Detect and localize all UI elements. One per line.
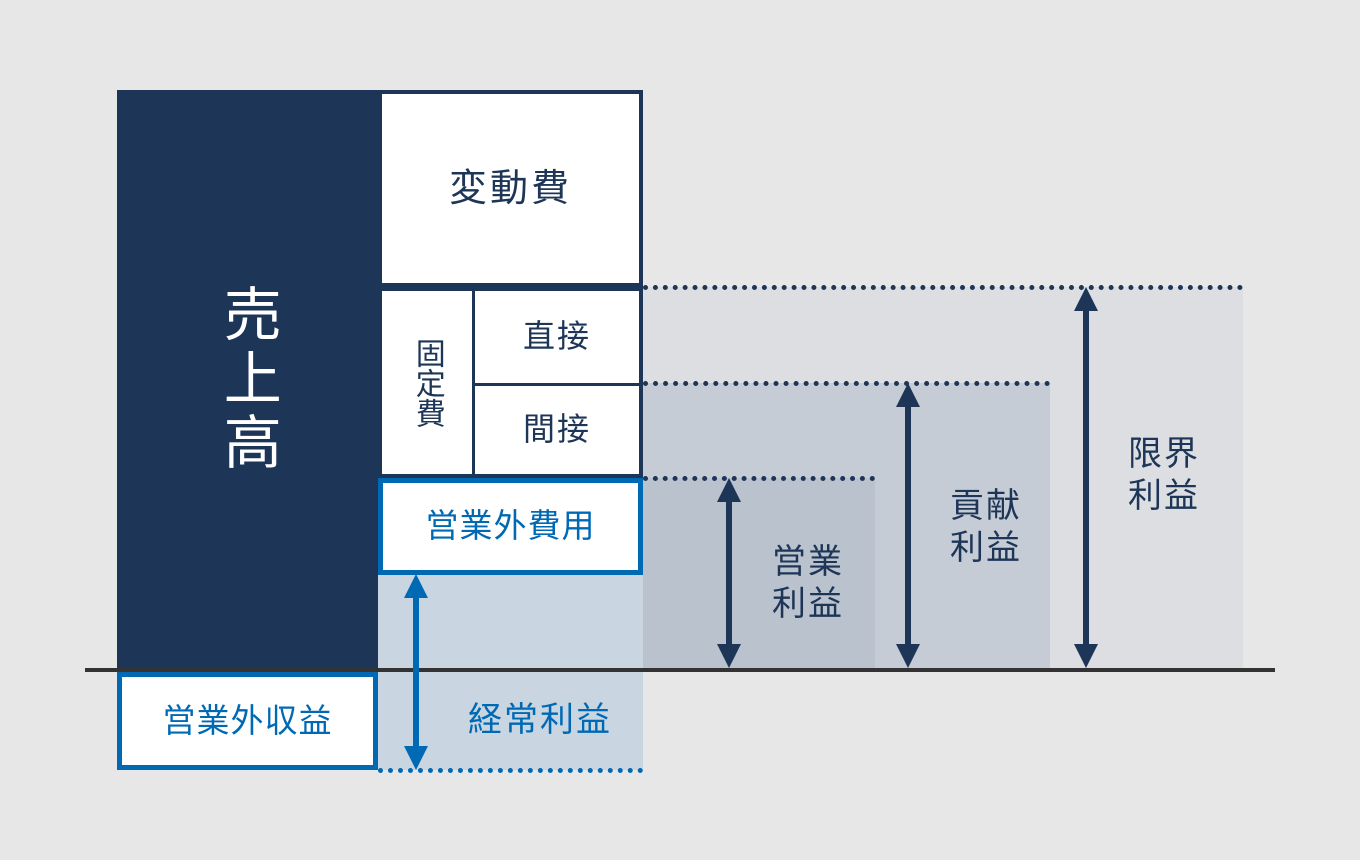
ordinary-profit-label: 経常利益 [468, 699, 612, 742]
guideline-operating-top [643, 476, 875, 481]
non-operating-income-box: 営業外収益 [117, 672, 378, 770]
ordinary-profit-caption: 経常利益 [440, 690, 640, 750]
fixed-cost-direct-label: 直接 [523, 318, 591, 356]
operating-profit-caption: 営業 利益 [752, 518, 864, 648]
marginal-profit-caption: 限界 利益 [1108, 410, 1220, 540]
non-operating-income-label: 営業外収益 [163, 702, 333, 741]
contribution-profit-label-line1: 貢献 [950, 485, 1022, 528]
diagram-canvas: 売上高 変動費 固定費 直接 間接 営業外費用 [0, 0, 1360, 860]
contribution-profit-caption: 貢献 利益 [930, 462, 1042, 592]
sales-revenue-block: 売上高 [117, 90, 378, 670]
non-operating-expense-label: 営業外費用 [426, 507, 596, 546]
operating-profit-arrow [711, 476, 747, 670]
variable-cost-box: 変動費 [378, 90, 643, 287]
marginal-profit-arrow [1068, 285, 1104, 670]
non-operating-expense-box: 営業外費用 [378, 478, 643, 575]
fixed-cost-direct-cell: 直接 [475, 291, 639, 383]
sales-revenue-label: 売上高 [213, 284, 281, 476]
contribution-profit-label-line2: 利益 [950, 527, 1022, 570]
fixed-cost-label-cell: 固定費 [382, 291, 472, 474]
guideline-contribution-top [643, 381, 1050, 386]
operating-profit-label-line2: 利益 [772, 583, 844, 626]
fixed-cost-box: 固定費 直接 間接 [378, 287, 643, 478]
fixed-cost-indirect-label: 間接 [523, 411, 591, 449]
variable-cost-label: 変動費 [449, 166, 572, 211]
guideline-marginal-top [643, 285, 1243, 290]
marginal-profit-label-line2: 利益 [1128, 475, 1200, 518]
contribution-profit-arrow [890, 381, 926, 670]
fixed-cost-label: 固定費 [411, 338, 443, 428]
operating-profit-label-line1: 営業 [772, 541, 844, 584]
fixed-cost-indirect-cell: 間接 [475, 386, 639, 474]
ordinary-profit-arrow [398, 572, 434, 772]
marginal-profit-label-line1: 限界 [1128, 433, 1200, 476]
